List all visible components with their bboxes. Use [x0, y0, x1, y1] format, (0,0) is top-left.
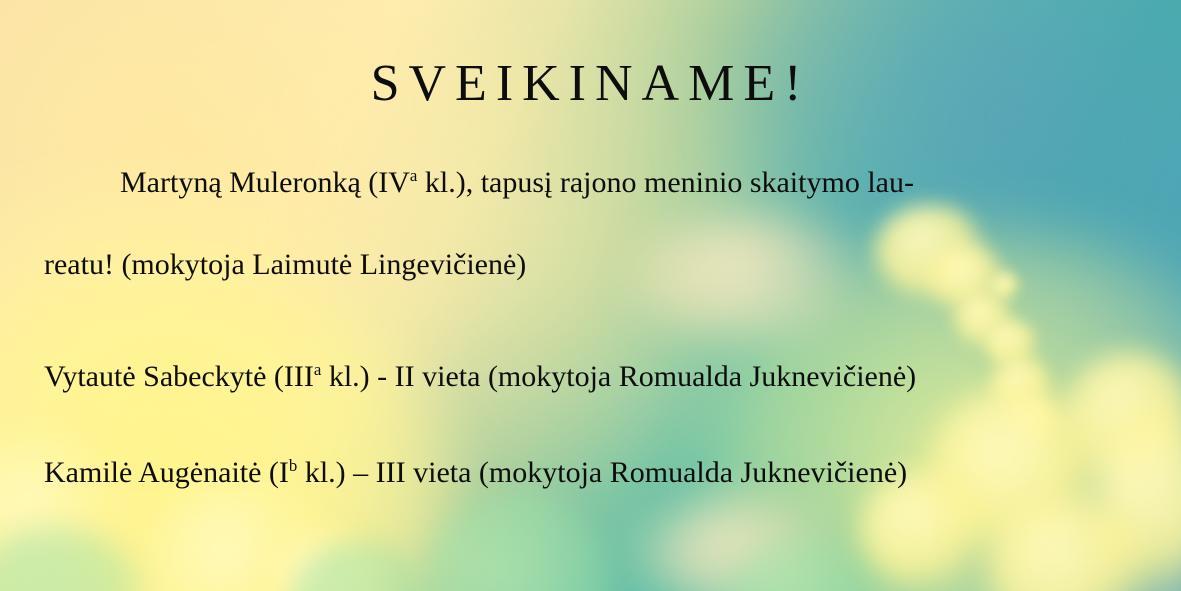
- banner-title: SVEIKINAME!: [0, 58, 1181, 110]
- line-text-before-superscript: Kamilė Augėnaitė (I: [44, 456, 289, 489]
- paragraph-third-place: Kamilė Augėnaitė (Ib kl.) – III vieta (m…: [44, 458, 1153, 488]
- line-text-after-superscript: kl.) - II vieta (mokytoja Romualda Jukne…: [321, 360, 916, 393]
- paragraph-second-place: Vytautė Sabeckytė (IIIa kl.) - II vieta …: [44, 362, 1153, 392]
- congratulations-banner: SVEIKINAME! Martyną Muleronką (IVa kl.),…: [0, 0, 1181, 591]
- paragraph-laureate-announcement: Martyną Muleronką (IVa kl.), tapusį rajo…: [44, 168, 1153, 280]
- line-text-before-superscript: Martyną Muleronką (IV: [120, 166, 410, 199]
- banner-content: SVEIKINAME! Martyną Muleronką (IVa kl.),…: [0, 0, 1181, 591]
- line-text-after-superscript: kl.), tapusį rajono meninio skaitymo lau…: [417, 166, 914, 199]
- paragraph-line: reatu! (mokytoja Laimutė Lingevičienė): [44, 250, 1153, 280]
- line-text-before-superscript: Vytautė Sabeckytė (III: [44, 360, 314, 393]
- line-text-after-superscript: kl.) – III vieta (mokytoja Romualda Jukn…: [297, 456, 907, 489]
- paragraph-line: Martyną Muleronką (IVa kl.), tapusį rajo…: [44, 168, 1153, 198]
- line-text-before-superscript: reatu! (mokytoja Laimutė Lingevičienė): [44, 248, 526, 281]
